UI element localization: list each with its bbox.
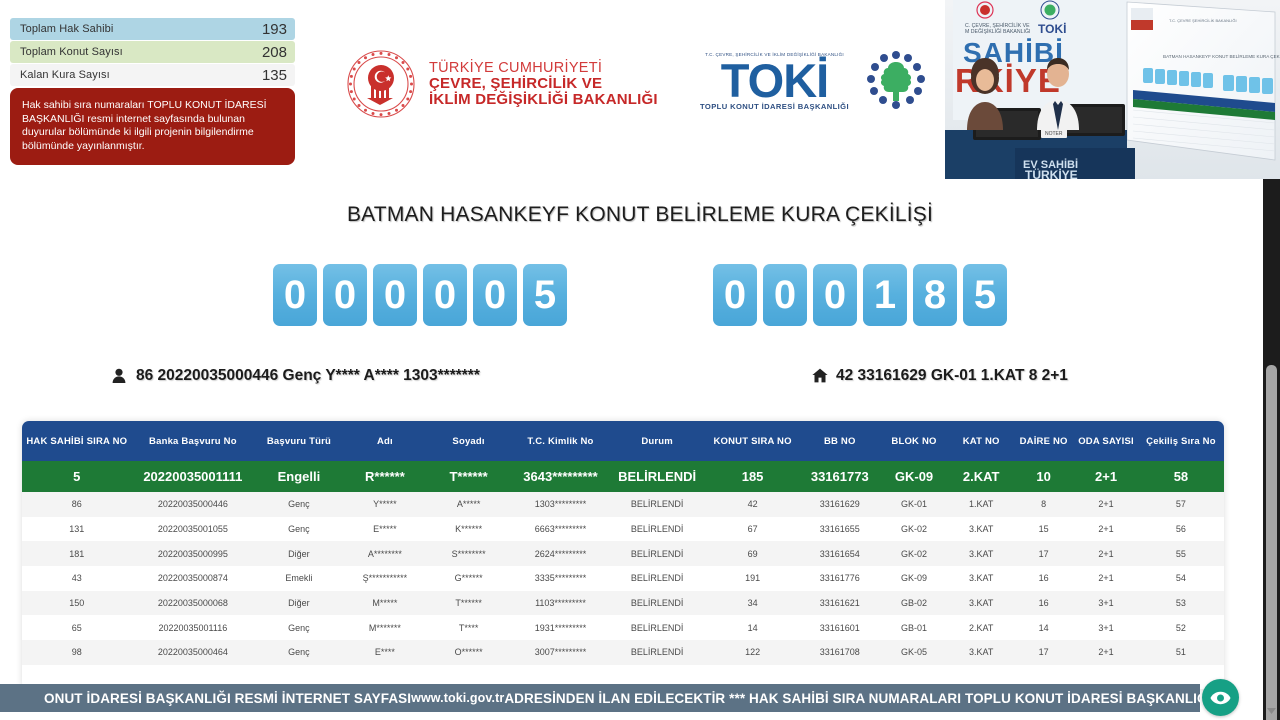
ministry-line-1: TÜRKİYE CUMHURİYETİ: [429, 60, 658, 76]
table-cell: GB-02: [879, 591, 950, 616]
vertical-scrollbar-track[interactable]: [1263, 179, 1280, 720]
table-cell: 2+1: [1074, 492, 1138, 517]
home-info-line: 42 33161629 GK-01 1.KAT 8 2+1: [812, 367, 1068, 385]
table-cell: E*****: [344, 517, 426, 542]
table-cell: A********: [344, 541, 426, 566]
table-row[interactable]: 15020220035000068DiğerM*****T******1103*…: [22, 591, 1224, 616]
table-cell: 57: [1138, 492, 1224, 517]
table-cell: 16: [1013, 566, 1074, 591]
stat-row-toplam-hak-sahibi: Toplam Hak Sahibi 193: [10, 18, 295, 40]
table-cell: 3.KAT: [949, 517, 1013, 542]
table-cell: 8: [1013, 492, 1074, 517]
table-cell: 2+1: [1074, 640, 1138, 665]
home-info-text: 42 33161629 GK-01 1.KAT 8 2+1: [836, 367, 1068, 385]
kura-reels: 0 0 0 0 0 5 0 0 0 1 8 5: [0, 264, 1280, 326]
table-cell: T******: [426, 461, 511, 492]
table-cell: 33161601: [801, 615, 879, 640]
table-cell: BELİRLENDİ: [610, 566, 704, 591]
table-cell: GK-09: [879, 566, 950, 591]
table-cell: Y*****: [344, 492, 426, 517]
digit-cell: 0: [473, 264, 517, 326]
table-cell: Ş***********: [344, 566, 426, 591]
table-cell: 69: [704, 541, 801, 566]
table-row[interactable]: 18120220035000995DiğerA********S********…: [22, 541, 1224, 566]
vertical-scrollbar-thumb[interactable]: [1266, 365, 1277, 720]
table-cell: 15: [1013, 517, 1074, 542]
table-cell: 10: [1013, 461, 1074, 492]
table-cell: GK-02: [879, 517, 950, 542]
table-cell: 33161708: [801, 640, 879, 665]
col-header-konut-sira-no[interactable]: KONUT SIRA NO: [704, 421, 801, 461]
svg-text:TOKİ: TOKİ: [1038, 21, 1066, 36]
table-cell: BELİRLENDİ: [610, 640, 704, 665]
col-header-durum[interactable]: Durum: [610, 421, 704, 461]
table-cell: 5: [22, 461, 132, 492]
table-cell: 42: [704, 492, 801, 517]
table-cell: 191: [704, 566, 801, 591]
table-row[interactable]: 4320220035000874EmekliŞ***********G*****…: [22, 566, 1224, 591]
table-cell: BELİRLENDİ: [610, 517, 704, 542]
table-row[interactable]: 8620220035000446GençY*****A*****1303****…: [22, 492, 1224, 517]
table-cell: 58: [1138, 461, 1224, 492]
table-cell: BELİRLENDİ: [610, 541, 704, 566]
digit-cell: 0: [423, 264, 467, 326]
col-header-tc-kimlik-no[interactable]: T.C. Kimlik No: [511, 421, 610, 461]
table-cell: K******: [426, 517, 511, 542]
table-cell: 20220035001111: [132, 461, 255, 492]
reel-gap: [567, 264, 713, 326]
reel-group-hak-sahibi: 0 0 0 0 0 5: [273, 264, 567, 326]
digit-cell: 0: [813, 264, 857, 326]
table-cell: 14: [1013, 615, 1074, 640]
table-cell: 33161655: [801, 517, 879, 542]
table-cell: 2.KAT: [949, 461, 1013, 492]
digit-cell: 0: [323, 264, 367, 326]
table-header-row: HAK SAHİBİ SIRA NO Banka Başvuru No Başv…: [22, 421, 1224, 461]
table-cell: 2+1: [1074, 461, 1138, 492]
table-cell: GK-02: [879, 541, 950, 566]
svg-text:BATMAN HASANKEYF KONUT BELİRLE: BATMAN HASANKEYF KONUT BELİRLEME KURA ÇE…: [1163, 53, 1280, 59]
table-cell: 20220035000874: [132, 566, 255, 591]
table-cell: 34: [704, 591, 801, 616]
results-table: HAK SAHİBİ SIRA NO Banka Başvuru No Başv…: [22, 421, 1224, 665]
table-cell: 131: [22, 517, 132, 542]
person-info-text: 86 20220035000446 Genç Y**** A**** 1303*…: [136, 367, 480, 385]
table-cell: 3+1: [1074, 591, 1138, 616]
table-body: 520220035001111EngelliR******T******3643…: [22, 461, 1224, 665]
table-row[interactable]: 6520220035001116GençM*******T****1931***…: [22, 615, 1224, 640]
table-cell: 16: [1013, 591, 1074, 616]
toki-logo-text: T.C. ÇEVRE, ŞEHİRCİLİK VE İKLİM DEĞİŞİKL…: [700, 52, 849, 111]
digit-cell: 5: [523, 264, 567, 326]
table-cell: 20220035000446: [132, 492, 255, 517]
table-cell: 43: [22, 566, 132, 591]
digit-cell: 0: [763, 264, 807, 326]
table-cell: 51: [1138, 640, 1224, 665]
table-cell: 52: [1138, 615, 1224, 640]
stat-row-kalan-kura-sayisi: Kalan Kura Sayısı 135: [10, 64, 295, 86]
stat-label: Kalan Kura Sayısı: [20, 69, 110, 81]
table-cell: 14: [704, 615, 801, 640]
table-cell: 33161773: [801, 461, 879, 492]
table-cell: M*******: [344, 615, 426, 640]
table-cell: 54: [1138, 566, 1224, 591]
col-header-blok-no[interactable]: BLOK NO: [879, 421, 950, 461]
table-cell: 1303*********: [511, 492, 610, 517]
table-cell: 20220035000464: [132, 640, 255, 665]
table-cell: R******: [344, 461, 426, 492]
table-cell: BELİRLENDİ: [610, 591, 704, 616]
table-cell: 3.KAT: [949, 591, 1013, 616]
svg-text:RKİYE: RKİYE: [955, 62, 1061, 99]
table-cell: T****: [426, 615, 511, 640]
ministry-logo: TÜRKİYE CUMHURİYETİ ÇEVRE, ŞEHİRCİLİK VE…: [345, 48, 658, 120]
table-cell: A*****: [426, 492, 511, 517]
table-cell: 3.KAT: [949, 541, 1013, 566]
table-cell: 3.KAT: [949, 640, 1013, 665]
table-cell: BELİRLENDİ: [610, 461, 704, 492]
scroll-down-arrow-icon: [1265, 704, 1278, 717]
table-cell: 33161776: [801, 566, 879, 591]
table-cell: 3643*********: [511, 461, 610, 492]
stat-value: 135: [262, 67, 287, 84]
ticker-text-part2: ADRESİNDEN İLAN EDİLECEKTİR *** HAK SAHİ…: [504, 691, 1200, 706]
stat-label: Toplam Konut Sayısı: [20, 46, 123, 58]
stats-panel: Toplam Hak Sahibi 193 Toplam Konut Sayıs…: [10, 18, 295, 86]
table-row[interactable]: 13120220035001055GençE*****K******6663**…: [22, 517, 1224, 542]
table-cell: Diğer: [254, 591, 344, 616]
table-cell: 3335*********: [511, 566, 610, 591]
stat-value: 193: [262, 21, 287, 38]
table-cell: 2.KAT: [949, 615, 1013, 640]
col-header-bb-no[interactable]: BB NO: [801, 421, 879, 461]
table-cell: G******: [426, 566, 511, 591]
digit-cell: 0: [713, 264, 757, 326]
table-row[interactable]: 9820220035000464GençE****O******3007****…: [22, 640, 1224, 665]
digit-cell: 0: [373, 264, 417, 326]
results-table-card: HAK SAHİBİ SIRA NO Banka Başvuru No Başv…: [22, 421, 1224, 689]
table-cell: 150: [22, 591, 132, 616]
table-cell: GK-09: [879, 461, 950, 492]
reel-group-konut: 0 0 0 1 8 5: [713, 264, 1007, 326]
svg-text:M DEĞİŞİKLİĞİ BAKANLIĞI: M DEĞİŞİKLİĞİ BAKANLIĞI: [965, 28, 1030, 35]
ticker-url: www.toki.gov.tr: [411, 691, 504, 705]
page-title: BATMAN HASANKEYF KONUT BELİRLEME KURA ÇE…: [0, 203, 1280, 227]
digit-cell: 1: [863, 264, 907, 326]
table-cell: Genç: [254, 517, 344, 542]
table-cell: BELİRLENDİ: [610, 492, 704, 517]
table-cell: 67: [704, 517, 801, 542]
col-header-banka-basvuru-no[interactable]: Banka Başvuru No: [132, 421, 255, 461]
toki-bottom-line: TOPLU KONUT İDARESİ BAŞKANLIĞI: [700, 102, 849, 111]
col-header-adi[interactable]: Adı: [344, 421, 426, 461]
table-cell: GB-01: [879, 615, 950, 640]
ticker-text-part1: ONUT İDARESİ BAŞKANLIĞI RESMİ İNTERNET S…: [44, 691, 411, 706]
stat-row-toplam-konut-sayisi: Toplam Konut Sayısı 208: [10, 41, 295, 63]
person-icon: [112, 368, 126, 384]
col-header-soyadi[interactable]: Soyadı: [426, 421, 511, 461]
table-cell: E****: [344, 640, 426, 665]
stat-value: 208: [262, 44, 287, 61]
table-cell: S********: [426, 541, 511, 566]
svg-text:C. ÇEVRE, ŞEHİRCİLİK VE: C. ÇEVRE, ŞEHİRCİLİK VE: [965, 22, 1030, 29]
ministry-line-3: İKLİM DEĞİŞİKLİĞİ BAKANLIĞI: [429, 92, 658, 108]
svg-text:TÜRKİYE: TÜRKİYE: [1025, 167, 1078, 179]
col-header-daire-no[interactable]: DAİRE NO: [1013, 421, 1074, 461]
turkish-republic-seal-icon: [345, 48, 417, 120]
preview-eye-button[interactable]: [1202, 679, 1239, 716]
table-cell: Engelli: [254, 461, 344, 492]
kura-page: Toplam Hak Sahibi 193 Toplam Konut Sayıs…: [0, 0, 1280, 720]
table-cell: 65: [22, 615, 132, 640]
table-cell: 1103*********: [511, 591, 610, 616]
col-header-basvuru-turu[interactable]: Başvuru Türü: [254, 421, 344, 461]
digit-cell: 5: [963, 264, 1007, 326]
col-header-cekilis-sira-no[interactable]: Çekiliş Sıra No: [1138, 421, 1224, 461]
col-header-kat-no[interactable]: KAT NO: [949, 421, 1013, 461]
table-cell: 2624*********: [511, 541, 610, 566]
table-cell: T******: [426, 591, 511, 616]
table-cell: 122: [704, 640, 801, 665]
livestream-thumbnail[interactable]: C. ÇEVRE, ŞEHİRCİLİK VE M DEĞİŞİKLİĞİ BA…: [945, 0, 1280, 179]
table-cell: 2+1: [1074, 517, 1138, 542]
col-header-oda-sayisi[interactable]: ODA SAYISI: [1074, 421, 1138, 461]
toki-tree-emblem-icon: [865, 50, 927, 112]
table-cell: 3007*********: [511, 640, 610, 665]
table-cell: 17: [1013, 541, 1074, 566]
announcement-ticker: ONUT İDARESİ BAŞKANLIĞI RESMİ İNTERNET S…: [0, 684, 1200, 712]
table-cell: Genç: [254, 615, 344, 640]
toki-logo: T.C. ÇEVRE, ŞEHİRCİLİK VE İKLİM DEĞİŞİKL…: [700, 50, 927, 112]
svg-text:T.C. ÇEVRE ŞEHİRCİLİK BAKANLIĞ: T.C. ÇEVRE ŞEHİRCİLİK BAKANLIĞI: [1169, 18, 1237, 23]
eye-icon: [1210, 691, 1231, 705]
table-cell: 98: [22, 640, 132, 665]
table-cell: 20220035000068: [132, 591, 255, 616]
ministry-line-2: ÇEVRE, ŞEHİRCİLİK VE: [429, 76, 658, 92]
person-info-line: 86 20220035000446 Genç Y**** A**** 1303*…: [112, 367, 480, 385]
table-cell: 20220035000995: [132, 541, 255, 566]
toki-wordmark: TOKİ: [700, 57, 849, 105]
table-cell: 55: [1138, 541, 1224, 566]
table-cell: BELİRLENDİ: [610, 615, 704, 640]
table-cell: M*****: [344, 591, 426, 616]
table-cell: GK-01: [879, 492, 950, 517]
ministry-logo-text: TÜRKİYE CUMHURİYETİ ÇEVRE, ŞEHİRCİLİK VE…: [429, 60, 658, 108]
home-icon: [812, 368, 826, 384]
table-cell: Genç: [254, 640, 344, 665]
table-cell: 2+1: [1074, 566, 1138, 591]
table-cell: 20220035001116: [132, 615, 255, 640]
col-header-hak-sahibi-sira-no[interactable]: HAK SAHİBİ SIRA NO: [22, 421, 132, 461]
digit-cell: 8: [913, 264, 957, 326]
svg-text:NOTER: NOTER: [1045, 131, 1063, 137]
table-cell: 33161654: [801, 541, 879, 566]
table-cell: 2+1: [1074, 541, 1138, 566]
table-cell: 3+1: [1074, 615, 1138, 640]
table-cell: Diğer: [254, 541, 344, 566]
table-cell: 53: [1138, 591, 1224, 616]
table-cell: 185: [704, 461, 801, 492]
stat-label: Toplam Hak Sahibi: [20, 23, 113, 35]
table-cell: 86: [22, 492, 132, 517]
table-cell: 3.KAT: [949, 566, 1013, 591]
notice-banner: Hak sahibi sıra numaraları TOPLU KONUT İ…: [10, 88, 295, 165]
table-cell: O******: [426, 640, 511, 665]
scroll-gutter: [1252, 179, 1263, 720]
table-cell: 17: [1013, 640, 1074, 665]
table-cell: Genç: [254, 492, 344, 517]
table-cell: GK-05: [879, 640, 950, 665]
table-cell: 1931*********: [511, 615, 610, 640]
table-cell: 20220035001055: [132, 517, 255, 542]
table-cell: 6663*********: [511, 517, 610, 542]
digit-cell: 0: [273, 264, 317, 326]
table-cell: 181: [22, 541, 132, 566]
table-cell: 33161621: [801, 591, 879, 616]
table-cell: 56: [1138, 517, 1224, 542]
table-head: HAK SAHİBİ SIRA NO Banka Başvuru No Başv…: [22, 421, 1224, 461]
table-cell: Emekli: [254, 566, 344, 591]
table-row[interactable]: 520220035001111EngelliR******T******3643…: [22, 461, 1224, 492]
table-cell: 33161629: [801, 492, 879, 517]
table-cell: 1.KAT: [949, 492, 1013, 517]
